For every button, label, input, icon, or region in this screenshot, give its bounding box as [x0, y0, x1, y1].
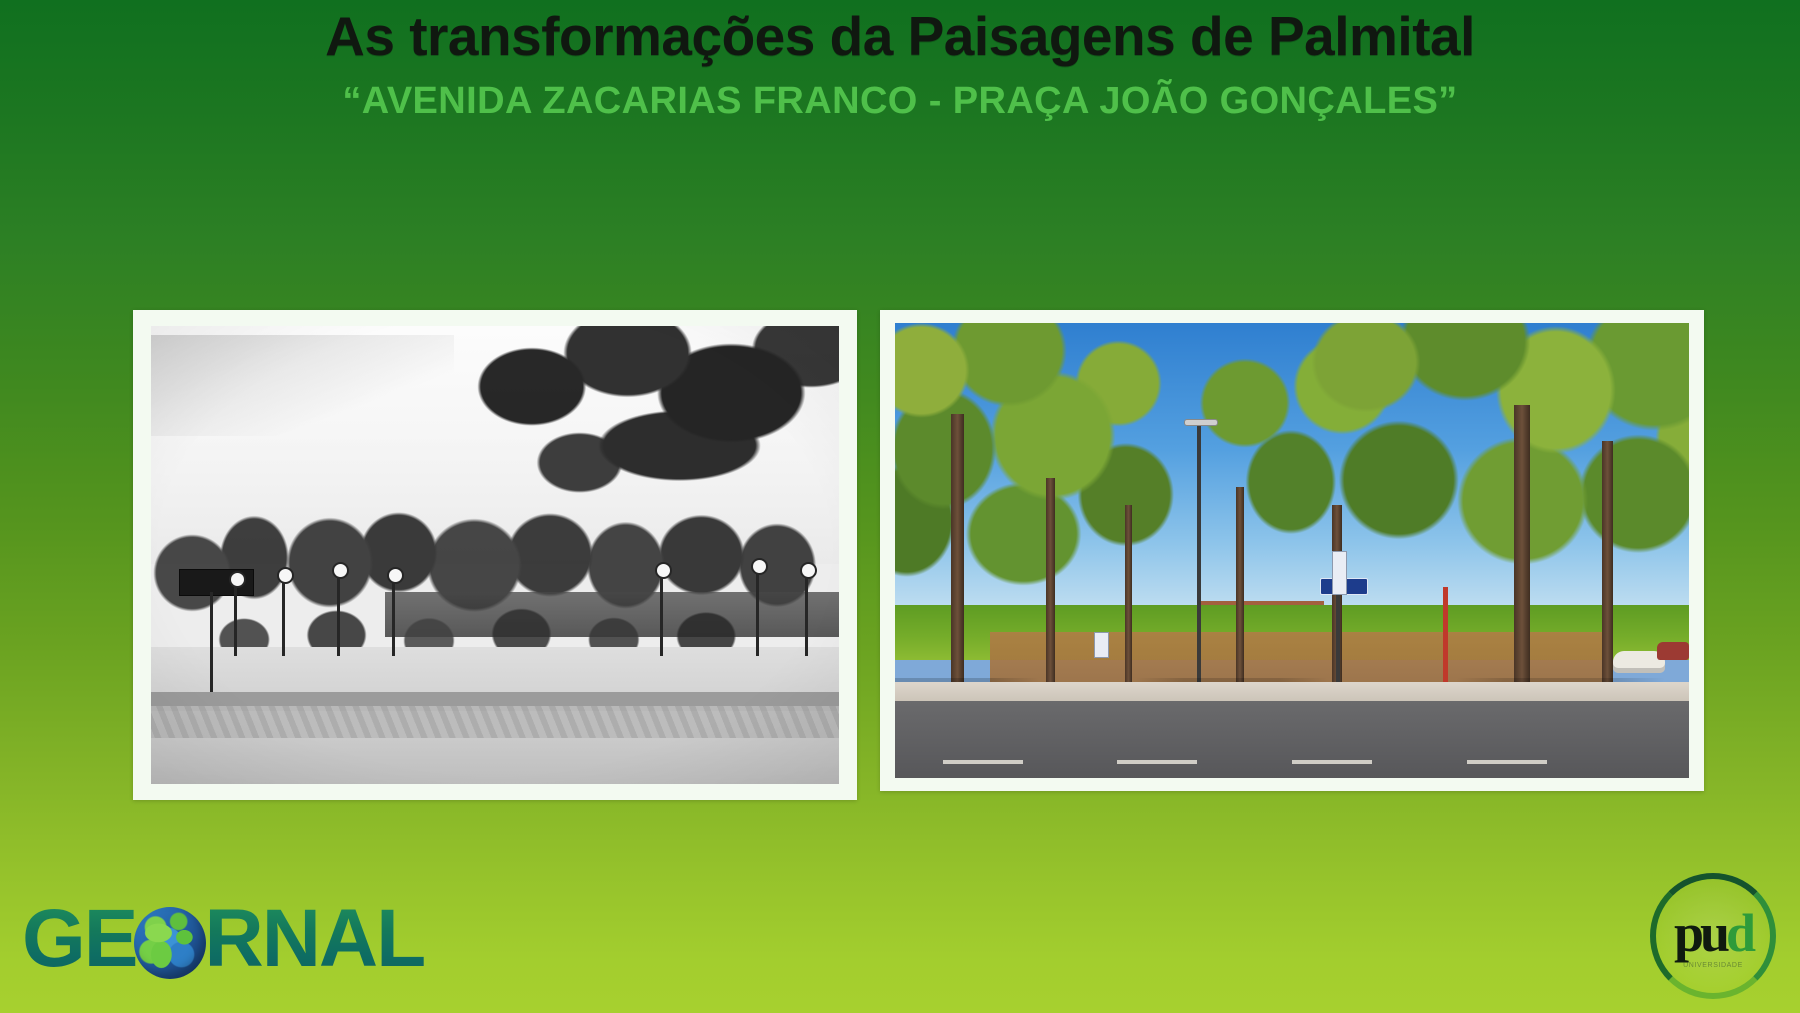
tree-canopy-right [1308, 323, 1689, 646]
street-light-head [1184, 419, 1218, 426]
photo-frame-historic [133, 310, 857, 800]
parked-red-car [1657, 642, 1689, 660]
monogram-letter-p: pu [1674, 903, 1726, 963]
information-sign [1332, 551, 1347, 595]
monogram-accent-letter: d [1726, 903, 1752, 963]
photo-vignette [151, 326, 839, 784]
information-post [1094, 632, 1109, 658]
tree-trunk [1602, 441, 1613, 687]
road-marking [1292, 760, 1372, 764]
tree-trunk [1125, 505, 1132, 687]
street-light-pole [1197, 423, 1201, 687]
asphalt-street [895, 701, 1689, 778]
page-subtitle: “AVENIDA ZACARIAS FRANCO - PRAÇA JOÃO GO… [0, 80, 1800, 124]
photo-frame-modern [880, 310, 1704, 791]
tree-trunk [1514, 405, 1530, 687]
photo-comparison-row [0, 310, 1800, 810]
geornal-text-after: RNAL [204, 898, 424, 980]
geornal-logo: GE RNAL [22, 893, 424, 985]
monogram-letters: pud [1674, 906, 1752, 960]
tree-trunk [1236, 487, 1244, 687]
road-marking [1117, 760, 1197, 764]
tree-trunk [1046, 478, 1055, 687]
geornal-text-before: GE [22, 898, 136, 980]
historic-plaza-photo [151, 326, 839, 784]
institution-monogram-logo: pud UNIVERSIDADE [1650, 873, 1776, 999]
title-block: As transformações da Paisagens de Palmit… [0, 6, 1800, 123]
road-marking [1467, 760, 1547, 764]
tree-trunk [951, 414, 964, 687]
modern-plaza-photo [895, 323, 1689, 778]
page-title: As transformações da Paisagens de Palmit… [0, 6, 1800, 68]
road-marking [943, 760, 1023, 764]
monogram-subtext: UNIVERSIDADE [1683, 962, 1743, 969]
globe-icon [134, 907, 206, 979]
